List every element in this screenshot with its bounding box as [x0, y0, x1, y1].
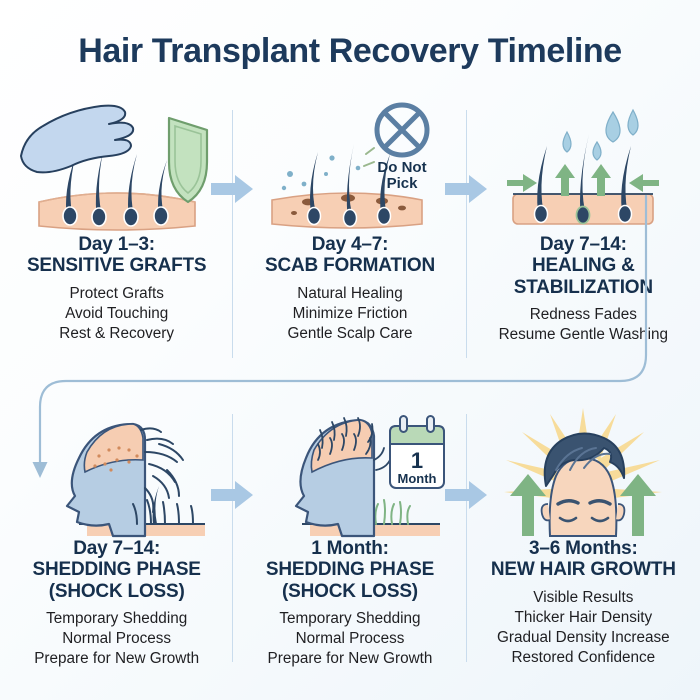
step-panel-new-hair-growth[interactable]: 3–6 Months: NEW HAIR GROWTH Visible Resu…: [467, 400, 700, 680]
step-day: 1 Month:: [239, 538, 460, 559]
bullet: Normal Process: [6, 629, 227, 649]
arrow-right-icon: [443, 172, 489, 206]
bullet: Temporary Shedding: [6, 609, 227, 629]
caption-sensitive-grafts: Day 1–3: SENSITIVE GRAFTS Protect Grafts…: [0, 234, 233, 344]
bullet: Gentle Scalp Care: [239, 324, 460, 344]
step-title: HEALING & STABILIZATION: [473, 255, 694, 298]
step-panel-shedding-phase-day-7-14[interactable]: Day 7–14: SHEDDING PHASE (SHOCK LOSS) Te…: [0, 400, 233, 680]
pick-label: Pick: [387, 175, 419, 192]
head-silhouette-icon: [67, 424, 145, 536]
bullet: Natural Healing: [239, 284, 460, 304]
calendar-unit: Month: [397, 471, 436, 486]
step-heading: Day 7–14: SHEDDING PHASE (SHOCK LOSS): [6, 538, 227, 602]
step-title: SCAB FORMATION: [239, 255, 460, 276]
bullet: Prepare for New Growth: [239, 649, 460, 669]
caption-healing-stabilization: Day 7–14: HEALING & STABILIZATION Rednes…: [467, 234, 700, 345]
step-panel-shedding-phase-1-month[interactable]: 1 Month 1 Month: SHEDDING PHASE (SHOCK L…: [233, 400, 466, 680]
timeline-rows: Day 1–3: SENSITIVE GRAFTS Protect Grafts…: [0, 96, 700, 680]
bullet: Protect Grafts: [6, 284, 227, 304]
caption-scab-formation: Day 4–7: SCAB FORMATION Natural Healing …: [233, 234, 466, 344]
scalp-icon: [39, 193, 195, 230]
timeline-row-2: Day 7–14: SHEDDING PHASE (SHOCK LOSS) Te…: [0, 400, 700, 680]
timeline-row-1: Day 1–3: SENSITIVE GRAFTS Protect Grafts…: [0, 96, 700, 376]
bullet: Rest & Recovery: [6, 324, 227, 344]
illustration-scalp-droplets-arrows: [467, 96, 700, 234]
bullet: Visible Results: [473, 588, 694, 608]
step-day: Day 1–3:: [6, 234, 227, 255]
step-title: NEW HAIR GROWTH: [473, 559, 694, 580]
bullet: Avoid Touching: [6, 304, 227, 324]
no-pick-sign-icon: [377, 105, 427, 155]
bullet: Thicker Hair Density: [473, 608, 694, 628]
illustration-face-sunburst-growth: [467, 400, 700, 538]
do-not-label: Do Not: [377, 159, 426, 176]
step-title: SHEDDING PHASE (SHOCK LOSS): [239, 559, 460, 602]
bullet: Redness Fades: [473, 305, 694, 325]
step-heading: 1 Month: SHEDDING PHASE (SHOCK LOSS): [239, 538, 460, 602]
illustration-hand-shield-grafts: [0, 96, 233, 234]
calendar-number: 1: [411, 448, 423, 473]
step-heading: Day 7–14: HEALING & STABILIZATION: [473, 234, 694, 298]
hand-icon: [21, 106, 133, 173]
caption-shedding-phase-1-month: 1 Month: SHEDDING PHASE (SHOCK LOSS) Tem…: [233, 538, 466, 669]
arrow-right-icon: [209, 478, 255, 512]
shield-icon: [169, 118, 207, 202]
step-heading: Day 4–7: SCAB FORMATION: [239, 234, 460, 277]
step-panel-healing-stabilization[interactable]: Day 7–14: HEALING & STABILIZATION Rednes…: [467, 96, 700, 376]
illustration-head-shedding: [0, 400, 233, 538]
step-heading: 3–6 Months: NEW HAIR GROWTH: [473, 538, 694, 581]
step-bullets: Visible Results Thicker Hair Density Gra…: [473, 588, 694, 668]
face-icon: [542, 433, 625, 536]
step-day: Day 7–14:: [473, 234, 694, 255]
step-day: Day 7–14:: [6, 538, 227, 559]
motion-lines-icon: [364, 148, 374, 166]
bullet: Gradual Density Increase: [473, 628, 694, 648]
arrow-right-icon: [209, 172, 255, 206]
step-day: 3–6 Months:: [473, 538, 694, 559]
caption-shedding-phase-day-7-14: Day 7–14: SHEDDING PHASE (SHOCK LOSS) Te…: [0, 538, 233, 669]
bullet: Temporary Shedding: [239, 609, 460, 629]
bullet: Minimize Friction: [239, 304, 460, 324]
step-bullets: Natural Healing Minimize Friction Gentle…: [239, 284, 460, 344]
arrow-right-icon: [443, 478, 489, 512]
step-bullets: Redness Fades Resume Gentle Washing: [473, 305, 694, 345]
water-droplets-icon: [563, 110, 638, 160]
bullet: Prepare for New Growth: [6, 649, 227, 669]
caption-new-hair-growth: 3–6 Months: NEW HAIR GROWTH Visible Resu…: [467, 538, 700, 667]
hair-follicles-icon: [307, 144, 390, 227]
bullet: Resume Gentle Washing: [473, 325, 694, 345]
step-title: SHEDDING PHASE (SHOCK LOSS): [6, 559, 227, 602]
illustration-head-calendar: 1 Month: [233, 400, 466, 538]
step-bullets: Protect Grafts Avoid Touching Rest & Rec…: [6, 284, 227, 344]
step-bullets: Temporary Shedding Normal Process Prepar…: [239, 609, 460, 669]
calendar-icon: 1 Month: [390, 416, 444, 488]
illustration-scalp-scabs-no-pick: Do Not Pick: [233, 96, 466, 234]
step-day: Day 4–7:: [239, 234, 460, 255]
bullet: Restored Confidence: [473, 648, 694, 668]
step-panel-scab-formation[interactable]: Do Not Pick Day 4–7: SCAB FORMATION Natu…: [233, 96, 466, 376]
step-title: SENSITIVE GRAFTS: [6, 255, 227, 276]
step-panel-sensitive-grafts[interactable]: Day 1–3: SENSITIVE GRAFTS Protect Grafts…: [0, 96, 233, 376]
step-bullets: Temporary Shedding Normal Process Prepar…: [6, 609, 227, 669]
step-heading: Day 1–3: SENSITIVE GRAFTS: [6, 234, 227, 277]
page-title: Hair Transplant Recovery Timeline: [0, 0, 700, 68]
bullet: Normal Process: [239, 629, 460, 649]
